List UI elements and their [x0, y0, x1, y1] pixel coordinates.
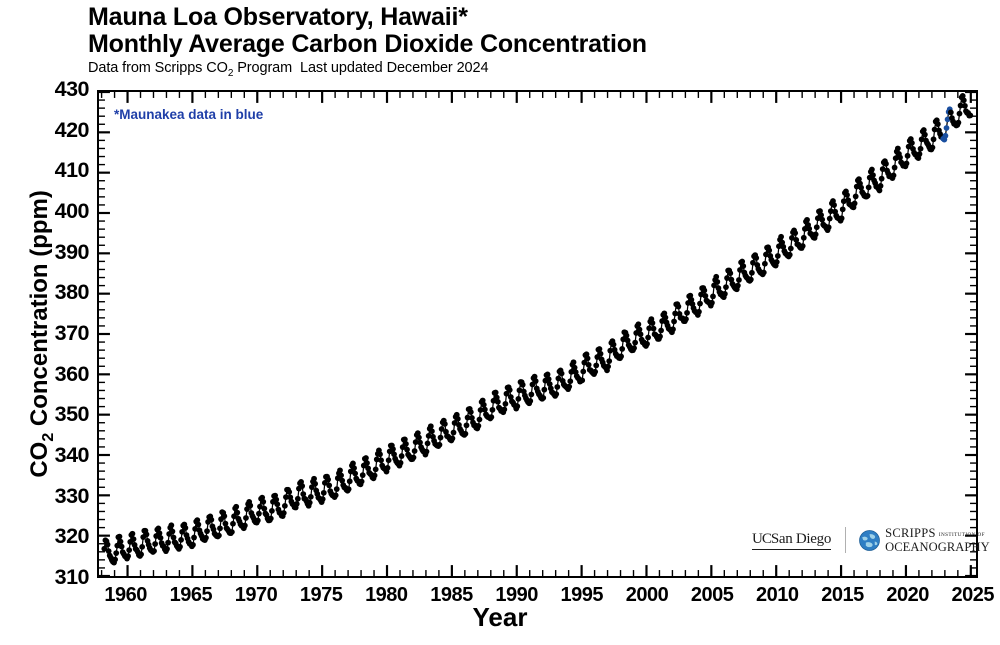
x-tick-label: 2025 — [933, 585, 1000, 605]
ucsd-uc-text: UC — [752, 531, 771, 547]
y-tick-label: 320 — [3, 526, 89, 547]
scripps-logo: SCRIPPS INSTITUTION OF OCEANOGRAPHY — [859, 527, 990, 553]
y-tick-label: 360 — [3, 364, 89, 385]
scripps-word: SCRIPPS — [885, 527, 936, 540]
y-tick-label: 370 — [3, 323, 89, 344]
globe-icon — [859, 530, 880, 551]
y-tick-label: 400 — [3, 201, 89, 222]
y-tick-label: 390 — [3, 242, 89, 263]
ucsd-name-text: San Diego — [771, 531, 831, 547]
maunakea-annotation: *Maunakea data in blue — [114, 107, 263, 122]
y-tick-label: 430 — [3, 79, 89, 100]
chart-page: Mauna Loa Observatory, Hawaii* Monthly A… — [0, 0, 1000, 645]
y-tick-label: 350 — [3, 404, 89, 425]
logo-group: UCSan Diego SCRIPPS INSTITUTION OF OCEAN… — [752, 524, 990, 556]
logo-divider — [845, 527, 846, 553]
y-tick-label: 310 — [3, 567, 89, 588]
y-tick-label: 420 — [3, 120, 89, 141]
y-tick-label: 410 — [3, 160, 89, 181]
y-tick-label: 340 — [3, 445, 89, 466]
scripps-institution-of: INSTITUTION OF — [939, 533, 985, 538]
co2-data-series — [99, 92, 976, 576]
y-tick-label: 380 — [3, 282, 89, 303]
y-tick-label: 330 — [3, 486, 89, 507]
plot-area — [97, 90, 978, 578]
scripps-oceanography: OCEANOGRAPHY — [885, 541, 990, 554]
uc-san-diego-logo: UCSan Diego — [752, 531, 831, 550]
scripps-wordmark: SCRIPPS INSTITUTION OF OCEANOGRAPHY — [885, 527, 990, 553]
